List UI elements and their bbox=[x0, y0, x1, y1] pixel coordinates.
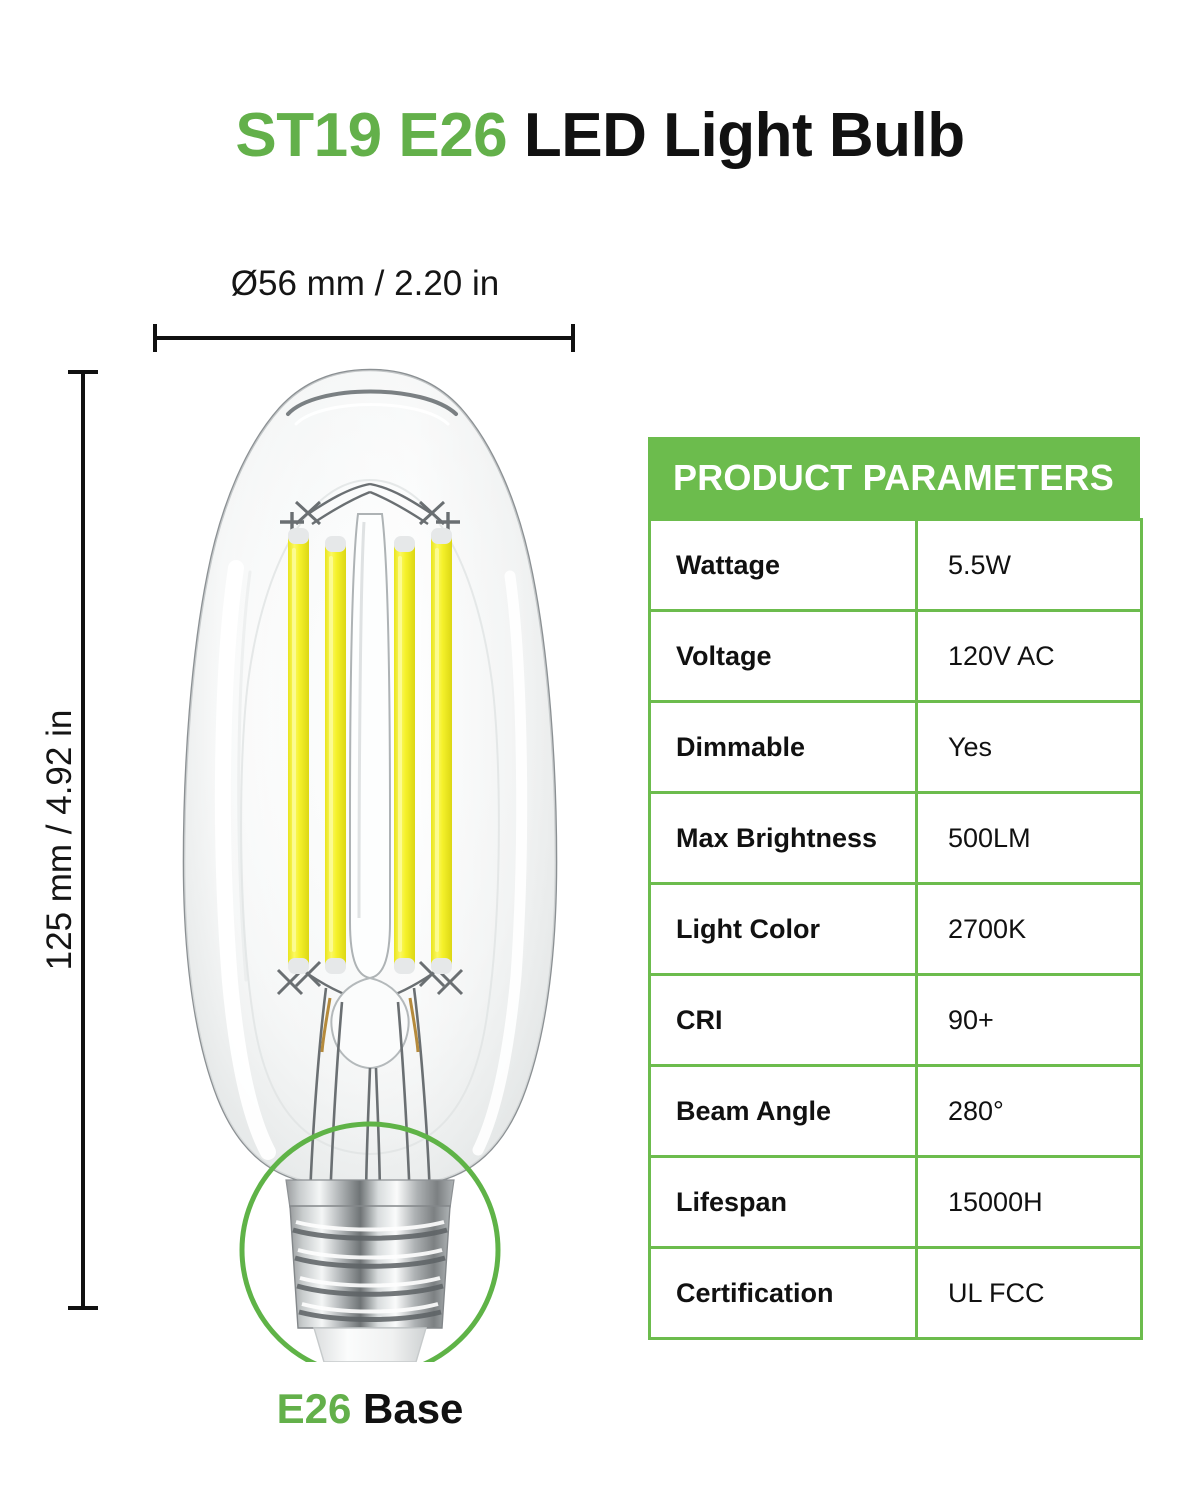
table-row: Light Color 2700K bbox=[650, 884, 1142, 975]
page-title-model: ST19 E26 bbox=[235, 101, 507, 170]
param-key: Light Color bbox=[650, 884, 917, 975]
table-row: Wattage 5.5W bbox=[650, 520, 1142, 611]
product-parameters-header-text: PRODUCT PARAMETERS bbox=[673, 457, 1114, 499]
table-row: Lifespan 15000H bbox=[650, 1157, 1142, 1248]
diameter-dimension-line bbox=[153, 336, 575, 340]
param-key: Wattage bbox=[650, 520, 917, 611]
e26-screw-base bbox=[286, 1180, 454, 1362]
product-parameters-header: PRODUCT PARAMETERS bbox=[648, 437, 1140, 518]
param-value: 280° bbox=[917, 1066, 1142, 1157]
table-row: Beam Angle 280° bbox=[650, 1066, 1142, 1157]
param-value: 500LM bbox=[917, 793, 1142, 884]
param-key: CRI bbox=[650, 975, 917, 1066]
table-row: Max Brightness 500LM bbox=[650, 793, 1142, 884]
height-dimension-line bbox=[81, 370, 85, 1310]
page-title-rest: LED Light Bulb bbox=[524, 101, 965, 170]
product-parameters-table: Wattage 5.5W Voltage 120V AC Dimmable Ye… bbox=[648, 518, 1143, 1340]
table-row: CRI 90+ bbox=[650, 975, 1142, 1066]
param-key: Lifespan bbox=[650, 1157, 917, 1248]
bulb-illustration bbox=[120, 362, 620, 1362]
base-callout-code: E26 bbox=[277, 1385, 352, 1432]
param-key: Beam Angle bbox=[650, 1066, 917, 1157]
param-value: 5.5W bbox=[917, 520, 1142, 611]
product-parameters-panel: PRODUCT PARAMETERS Wattage 5.5W Voltage … bbox=[648, 437, 1140, 1340]
product-parameters-body: Wattage 5.5W Voltage 120V AC Dimmable Ye… bbox=[650, 520, 1142, 1339]
table-row: Dimmable Yes bbox=[650, 702, 1142, 793]
base-callout-word: Base bbox=[363, 1385, 463, 1432]
param-value: 15000H bbox=[917, 1157, 1142, 1248]
height-dimension-label: 125 mm / 4.92 in bbox=[40, 630, 80, 1050]
param-key: Voltage bbox=[650, 611, 917, 702]
param-key: Max Brightness bbox=[650, 793, 917, 884]
page-title: ST19 E26 LED Light Bulb bbox=[0, 100, 1200, 171]
table-row: Certification UL FCC bbox=[650, 1248, 1142, 1339]
param-key: Certification bbox=[650, 1248, 917, 1339]
base-callout-label: E26 Base bbox=[120, 1385, 620, 1433]
param-value: Yes bbox=[917, 702, 1142, 793]
param-value: UL FCC bbox=[917, 1248, 1142, 1339]
table-row: Voltage 120V AC bbox=[650, 611, 1142, 702]
diameter-dimension-label: Ø56 mm / 2.20 in bbox=[140, 264, 590, 304]
param-value: 2700K bbox=[917, 884, 1142, 975]
param-value: 120V AC bbox=[917, 611, 1142, 702]
param-value: 90+ bbox=[917, 975, 1142, 1066]
param-key: Dimmable bbox=[650, 702, 917, 793]
